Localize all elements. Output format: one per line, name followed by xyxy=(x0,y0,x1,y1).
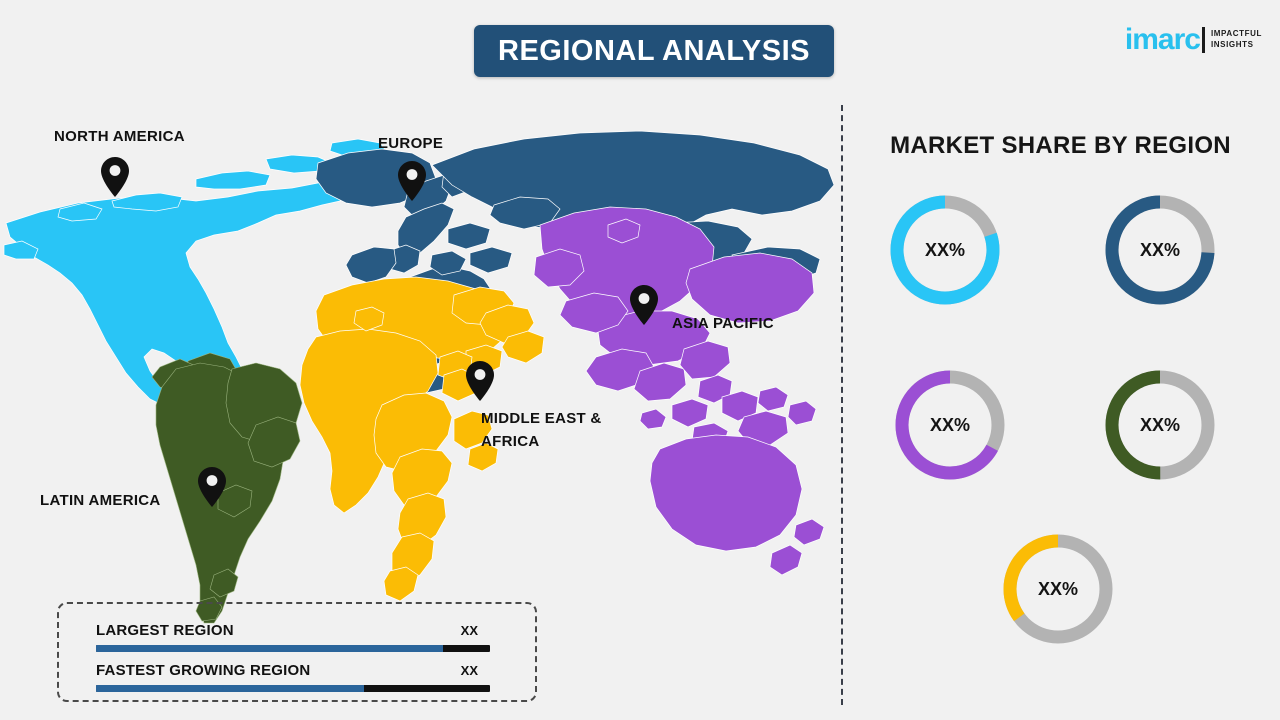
region-asia-pacific xyxy=(534,207,824,575)
donut-chart-latin-america: XX% xyxy=(1101,366,1219,484)
donut-percent-label: XX% xyxy=(886,191,1004,309)
donut-percent-label: XX% xyxy=(1101,366,1219,484)
logo-tagline-line2: INSIGHTS xyxy=(1211,40,1262,51)
world-map: NORTH AMERICA EUROPE ASIA PACIFIC MIDDLE… xyxy=(0,105,835,625)
map-label-asia-pacific: ASIA PACIFIC xyxy=(672,314,774,334)
map-label-north-america: NORTH AMERICA xyxy=(54,127,185,147)
page-title: REGIONAL ANALYSIS xyxy=(498,35,810,68)
donut-percent-label: XX% xyxy=(891,366,1009,484)
legend-box: LARGEST REGION XX FASTEST GROWING REGION… xyxy=(57,602,537,702)
legend-row-largest-region: LARGEST REGION XX xyxy=(96,622,490,652)
legend-value-largest-region: XX xyxy=(461,623,478,638)
map-pin-latin-america[interactable] xyxy=(198,467,226,507)
map-pin-middle-east-africa[interactable] xyxy=(466,361,494,401)
legend-value-fastest-growing-region: XX xyxy=(461,663,478,678)
imarc-logo: imarc IMPACTFUL INSIGHTS xyxy=(1125,25,1262,55)
logo-tagline-line1: IMPACTFUL xyxy=(1211,29,1262,40)
legend-bar-fill-fastest-growing-region xyxy=(96,685,364,692)
donut-chart-north-america: XX% xyxy=(886,191,1004,309)
legend-bar-track-largest-region xyxy=(96,645,490,652)
map-pin-asia-pacific[interactable] xyxy=(630,285,658,325)
map-label-latin-america: LATIN AMERICA xyxy=(40,491,161,511)
donut-chart-europe: XX% xyxy=(1101,191,1219,309)
donut-percent-label: XX% xyxy=(1101,191,1219,309)
map-label-middle-east-africa-line2: AFRICA xyxy=(481,432,539,452)
page-title-banner: REGIONAL ANALYSIS xyxy=(474,25,834,77)
map-pin-north-america[interactable] xyxy=(101,157,129,197)
legend-bar-track-fastest-growing-region xyxy=(96,685,490,692)
legend-label-fastest-growing-region: FASTEST GROWING REGION xyxy=(96,662,310,679)
map-pin-europe[interactable] xyxy=(398,161,426,201)
donut-chart-middle-east-africa: XX% xyxy=(999,530,1117,648)
map-label-europe: EUROPE xyxy=(378,134,443,154)
map-label-middle-east-africa-line1: MIDDLE EAST & xyxy=(481,409,602,429)
legend-label-largest-region: LARGEST REGION xyxy=(96,622,234,639)
region-latin-america xyxy=(152,353,302,623)
legend-row-fastest-growing-region: FASTEST GROWING REGION XX xyxy=(96,662,490,692)
legend-bar-fill-largest-region xyxy=(96,645,443,652)
logo-wordmark: imarc xyxy=(1125,25,1200,55)
panel-title: MARKET SHARE BY REGION xyxy=(841,132,1280,160)
logo-divider-bar xyxy=(1202,27,1205,53)
donut-percent-label: XX% xyxy=(999,530,1117,648)
donut-chart-asia-pacific: XX% xyxy=(891,366,1009,484)
logo-tagline: IMPACTFUL INSIGHTS xyxy=(1211,29,1262,51)
vertical-divider xyxy=(841,105,843,705)
